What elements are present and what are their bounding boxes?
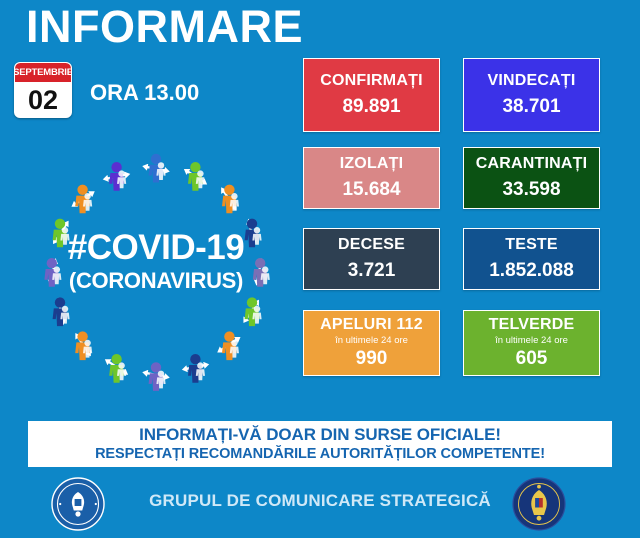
stat-box-vindecati: VINDECAȚI 38.701 bbox=[463, 58, 600, 132]
calendar-badge: SEPTEMBRIE 02 bbox=[14, 62, 72, 118]
stat-label: CONFIRMAȚI bbox=[320, 72, 422, 90]
stat-label: DECESE bbox=[338, 236, 405, 254]
stat-box-apeluri-112: APELURI 112 în ultimele 24 ore 990 bbox=[303, 310, 440, 376]
stat-note: în ultimele 24 ore bbox=[335, 335, 408, 346]
stat-value: 1.852.088 bbox=[489, 260, 574, 282]
stat-box-carantinati: CARANTINAȚI 33.598 bbox=[463, 147, 600, 209]
stat-note: în ultimele 24 ore bbox=[495, 335, 568, 346]
stat-value: 89.891 bbox=[342, 96, 400, 118]
stat-label: APELURI 112 bbox=[320, 316, 423, 334]
page-title: INFORMARE bbox=[26, 2, 303, 52]
stat-label: IZOLAȚI bbox=[340, 155, 404, 173]
stat-box-decese: DECESE 3.721 bbox=[303, 228, 440, 290]
banner-line-2: RESPECTAȚI RECOMANDĂRILE AUTORITĂȚILOR C… bbox=[95, 445, 545, 463]
calendar-month: SEPTEMBRIE bbox=[15, 63, 71, 82]
stat-value: 33.598 bbox=[502, 179, 560, 201]
circle-people bbox=[44, 154, 269, 391]
banner-line-1: INFORMAȚI-VĂ DOAR DIN SURSE OFICIALE! bbox=[139, 425, 501, 445]
stat-value: 605 bbox=[516, 348, 548, 370]
stat-label: TELVERDE bbox=[489, 316, 575, 334]
stat-value: 990 bbox=[356, 348, 388, 370]
covid-circle-svg bbox=[16, 133, 296, 408]
stat-label: VINDECAȚI bbox=[487, 72, 575, 90]
stat-box-teste: TESTE 1.852.088 bbox=[463, 228, 600, 290]
stat-value: 38.701 bbox=[502, 96, 560, 118]
departamentul-situatii-urgenta-seal-icon bbox=[512, 477, 566, 531]
stat-box-confirmati: CONFIRMAȚI 89.891 bbox=[303, 58, 440, 132]
stat-box-izolati: IZOLAȚI 15.684 bbox=[303, 147, 440, 209]
official-sources-banner: INFORMAȚI-VĂ DOAR DIN SURSE OFICIALE! RE… bbox=[28, 421, 612, 467]
stat-value: 15.684 bbox=[342, 179, 400, 201]
report-time: ORA 13.00 bbox=[90, 80, 199, 106]
covid-circle-graphic: #COVID-19 (CORONAVIRUS) bbox=[16, 133, 296, 408]
stat-label: TESTE bbox=[505, 236, 558, 254]
stat-box-telverde: TELVERDE în ultimele 24 ore 605 bbox=[463, 310, 600, 376]
calendar-day: 02 bbox=[15, 82, 71, 118]
stat-label: CARANTINAȚI bbox=[476, 155, 588, 173]
stat-value: 3.721 bbox=[348, 260, 396, 282]
informare-poster: INFORMARE SEPTEMBRIE 02 ORA 13.00 bbox=[0, 0, 640, 538]
